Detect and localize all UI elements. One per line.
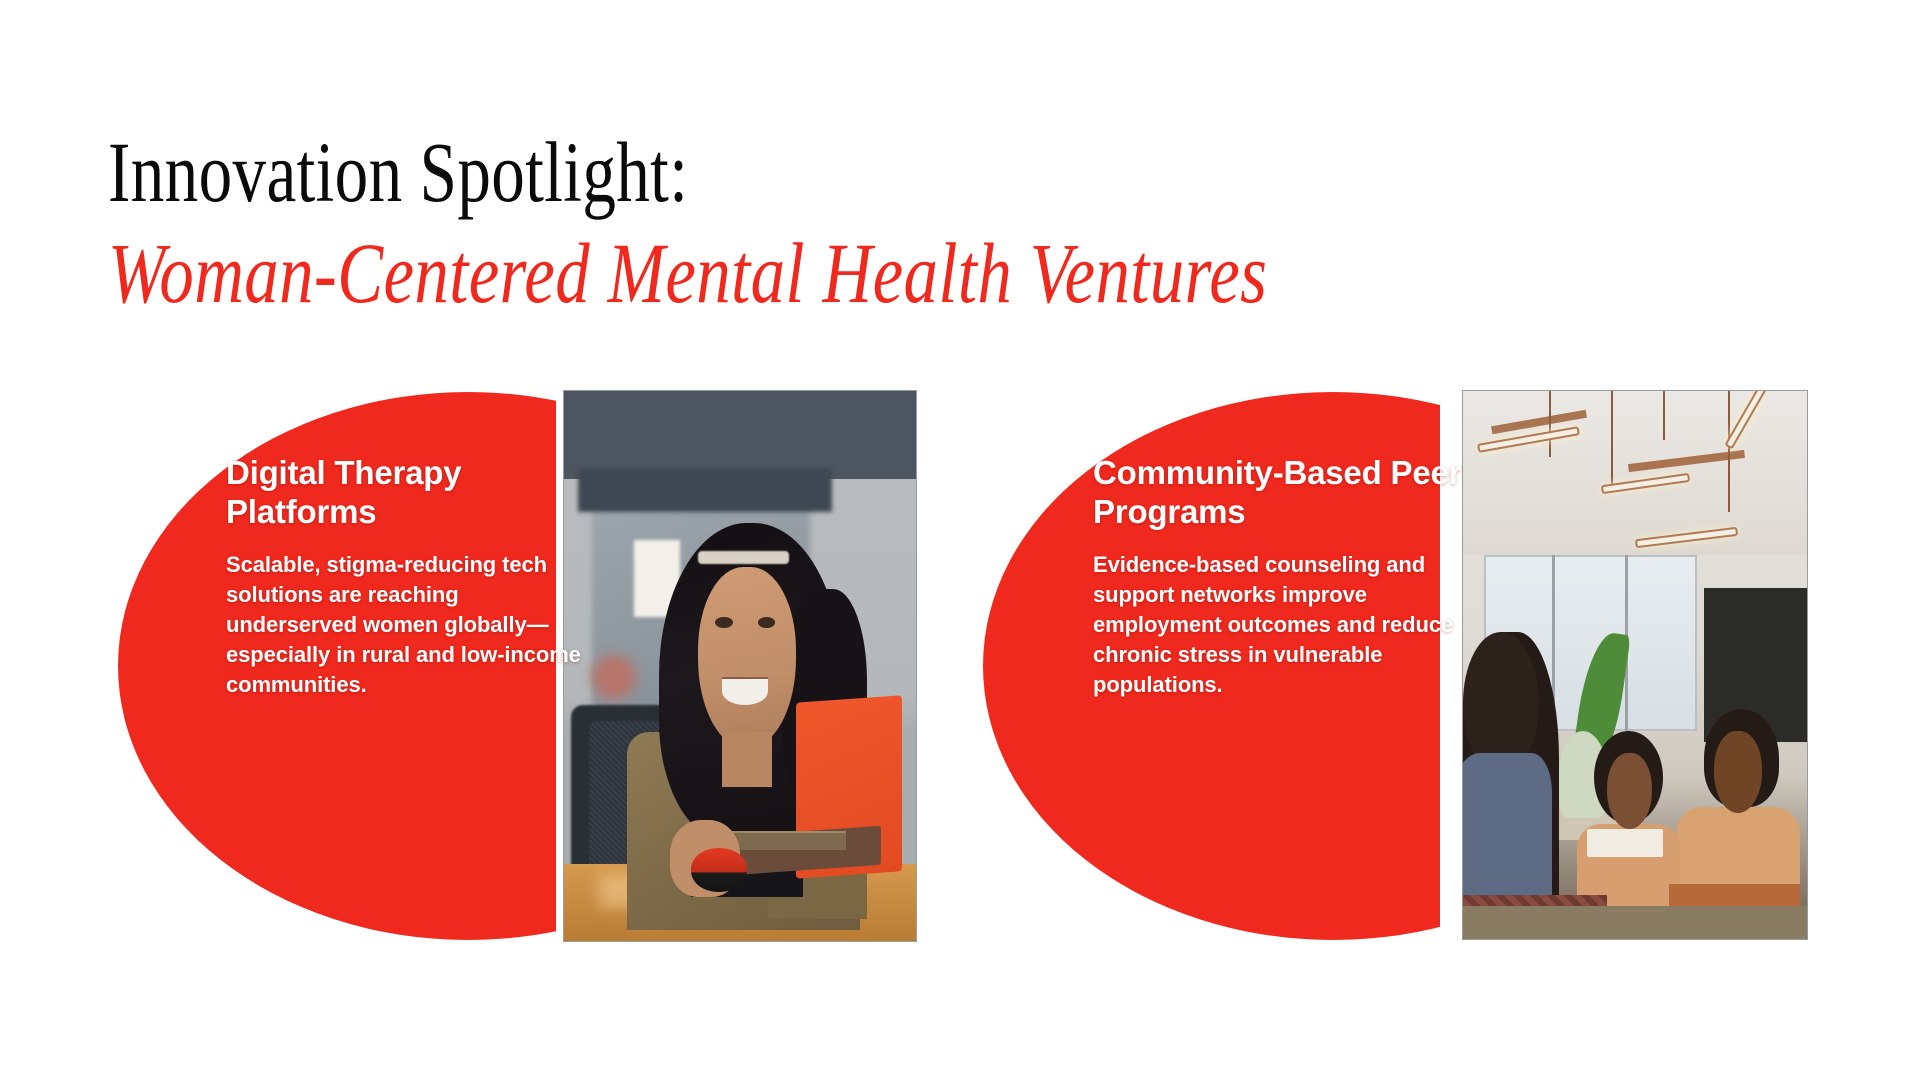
slide-title-block: Innovation Spotlight: Woman-Centered Men… — [108, 128, 1808, 319]
slide-title-secondary: Woman-Centered Mental Health Ventures — [108, 229, 1468, 318]
card-text-left: Digital Therapy Platforms Scalable, stig… — [226, 454, 586, 699]
photo-women-meeting-in-office — [1462, 390, 1808, 940]
card-text-right: Community-Based Peer Programs Evidence-b… — [1093, 454, 1473, 699]
card-heading-right: Community-Based Peer Programs — [1093, 454, 1473, 532]
card-heading-left: Digital Therapy Platforms — [226, 454, 586, 532]
slide-title-primary: Innovation Spotlight: — [108, 128, 1434, 217]
content-card-digital-therapy: Digital Therapy Platforms Scalable, stig… — [118, 392, 915, 940]
card-body-right: Evidence-based counseling and support ne… — [1093, 550, 1473, 700]
photo-woman-at-laptop — [563, 390, 917, 942]
card-body-left: Scalable, stigma-reducing tech solutions… — [226, 550, 586, 700]
presentation-slide: Innovation Spotlight: Woman-Centered Men… — [0, 0, 1920, 1080]
content-card-peer-programs: Community-Based Peer Programs Evidence-b… — [983, 392, 1808, 940]
